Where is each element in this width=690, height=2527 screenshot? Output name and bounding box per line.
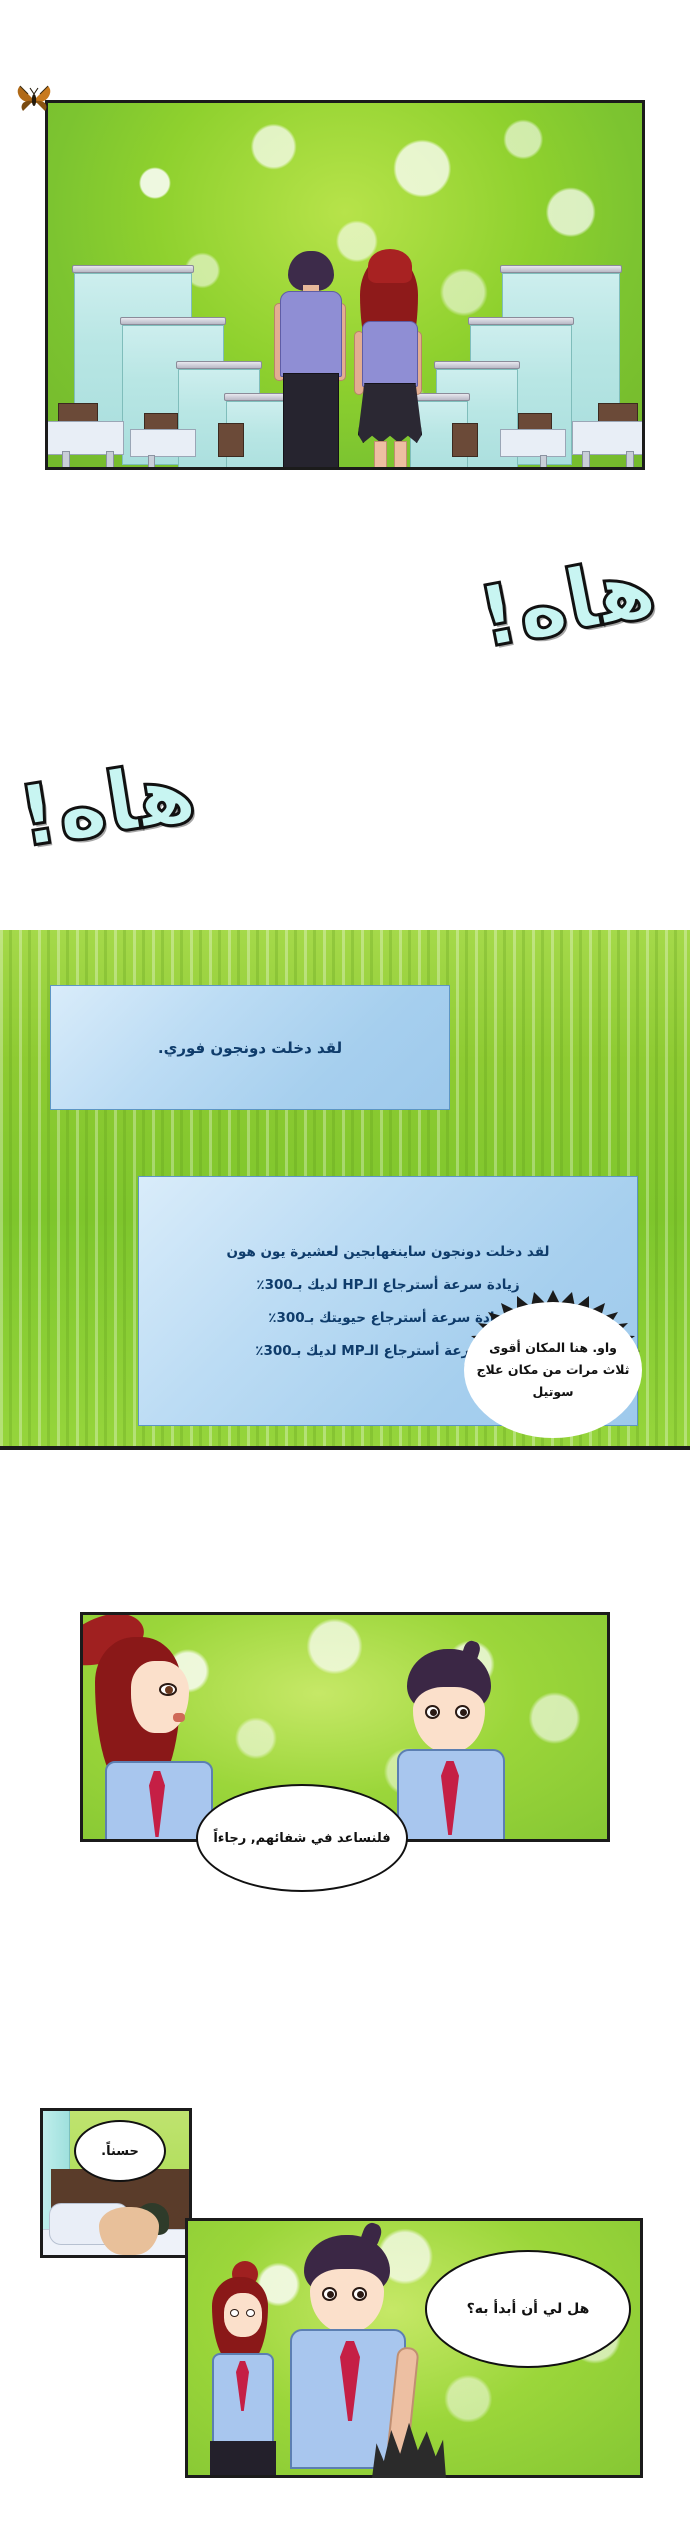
speech-bubble-panel4: حسناً. — [74, 2120, 166, 2182]
hospital-bed — [130, 429, 196, 457]
patient-face — [99, 2207, 159, 2255]
hospital-ward-scene — [48, 103, 642, 467]
hospital-bed — [572, 421, 645, 455]
system-line: لقد دخلت دونجون فوري. — [51, 1039, 449, 1057]
boy-shirt — [280, 291, 342, 377]
bed-leg — [582, 451, 590, 470]
girl-eye-right — [246, 2309, 255, 2317]
speech-bubble-panel3: فلنساعد في شفائهم, رجاءاً — [196, 1784, 408, 1892]
bed-headboard — [218, 423, 244, 457]
burst-line: ثلاث مرات من مكان علاج — [477, 1359, 630, 1381]
hospital-bed — [45, 421, 124, 455]
girl-hair-top — [368, 249, 412, 283]
boy-eye-right — [455, 1705, 470, 1719]
sfx-text-mid-left: هاه! — [13, 749, 202, 860]
hospital-bed — [500, 429, 566, 457]
girl-eye — [159, 1683, 177, 1696]
boy-eye-right — [352, 2287, 367, 2301]
girl-mouth — [173, 1713, 185, 1722]
burst-bubble-text: واو. هنا المكان أقوى ثلاث مرات من مكان ع… — [464, 1302, 642, 1438]
curtain-rail — [500, 265, 622, 273]
speech-bubble-panel5: هل لي أن أبدأ به؟ — [425, 2250, 631, 2368]
girl-shirt — [362, 321, 418, 387]
bed-headboard — [452, 423, 478, 457]
system-line: لقد دخلت دونجون ساينغهابجين لعشيرة يون ه… — [149, 1244, 627, 1260]
bed-leg — [106, 451, 114, 470]
girl-leg-right — [394, 441, 407, 470]
sfx-text-top-right: هاه! — [472, 544, 662, 660]
curtain-rail — [434, 361, 520, 369]
butterfly-icon — [14, 80, 54, 116]
girl-face — [131, 1661, 189, 1733]
girl-leg-left — [374, 441, 387, 470]
curtain-rail — [224, 393, 286, 401]
boy-pants — [283, 373, 339, 469]
bed-leg — [626, 451, 634, 470]
curtain-rail — [72, 265, 194, 273]
webtoon-page: هاه! هاه! لقد دخلت دونجون فوري. لقد دخلت… — [0, 0, 690, 2527]
burst-line: سوتيل — [532, 1381, 573, 1403]
curtain-rail — [468, 317, 574, 325]
bed-leg — [148, 455, 155, 470]
panel-hospital-ward — [45, 100, 645, 470]
girl-skirt — [210, 2441, 276, 2478]
system-message-box-1: لقد دخلت دونجون فوري. — [50, 985, 450, 1110]
curtain-rail — [176, 361, 262, 369]
bed-leg — [62, 451, 70, 470]
burst-line: واو. هنا المكان أقوى — [489, 1337, 617, 1359]
girl-eye-left — [230, 2309, 239, 2317]
curtain-rail — [120, 317, 226, 325]
girl-skirt — [358, 383, 422, 443]
boy-eye-left — [425, 1705, 440, 1719]
bed-leg — [540, 455, 547, 470]
spiky-thought-bubble: واو. هنا المكان أقوى ثلاث مرات من مكان ع… — [448, 1290, 658, 1450]
boy-eye-left — [322, 2287, 337, 2301]
